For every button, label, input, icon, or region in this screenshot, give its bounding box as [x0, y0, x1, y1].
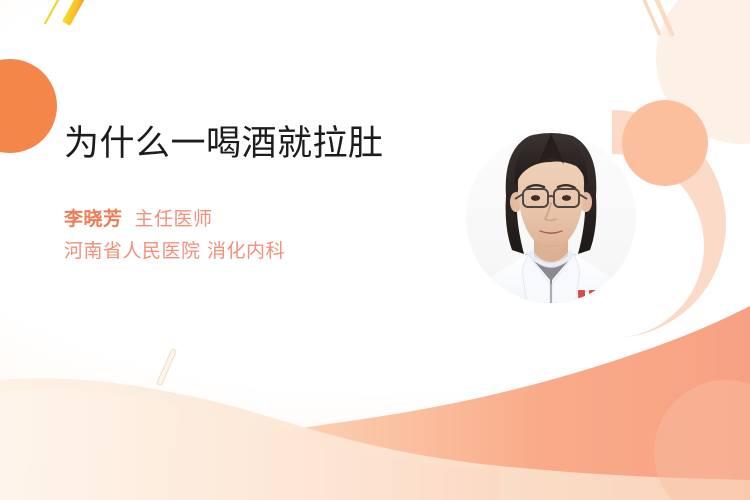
doctor-meta: 李晓芳主任医师 河南省人民医院 消化内科: [64, 203, 414, 267]
thumbnail-canvas: 为什么一喝酒就拉肚 李晓芳主任医师 河南省人民医院 消化内科: [0, 0, 750, 500]
text-block: 为什么一喝酒就拉肚 李晓芳主任医师 河南省人民医院 消化内科: [64, 122, 414, 267]
doctor-affiliation: 河南省人民医院 消化内科: [64, 235, 414, 267]
doctor-portrait: [466, 104, 636, 332]
doctor-name: 李晓芳: [64, 208, 123, 230]
eye-right: [562, 195, 571, 201]
doctor-name-row: 李晓芳主任医师: [64, 203, 414, 235]
lapel-badge-pin: [552, 303, 570, 321]
coat-button: [547, 314, 555, 322]
eye-left: [531, 195, 540, 201]
video-title: 为什么一喝酒就拉肚: [64, 122, 414, 166]
portrait-illustration: [466, 104, 636, 332]
stripe-outline-bottom: [157, 349, 177, 386]
doctor-rank: 主任医师: [135, 208, 213, 230]
